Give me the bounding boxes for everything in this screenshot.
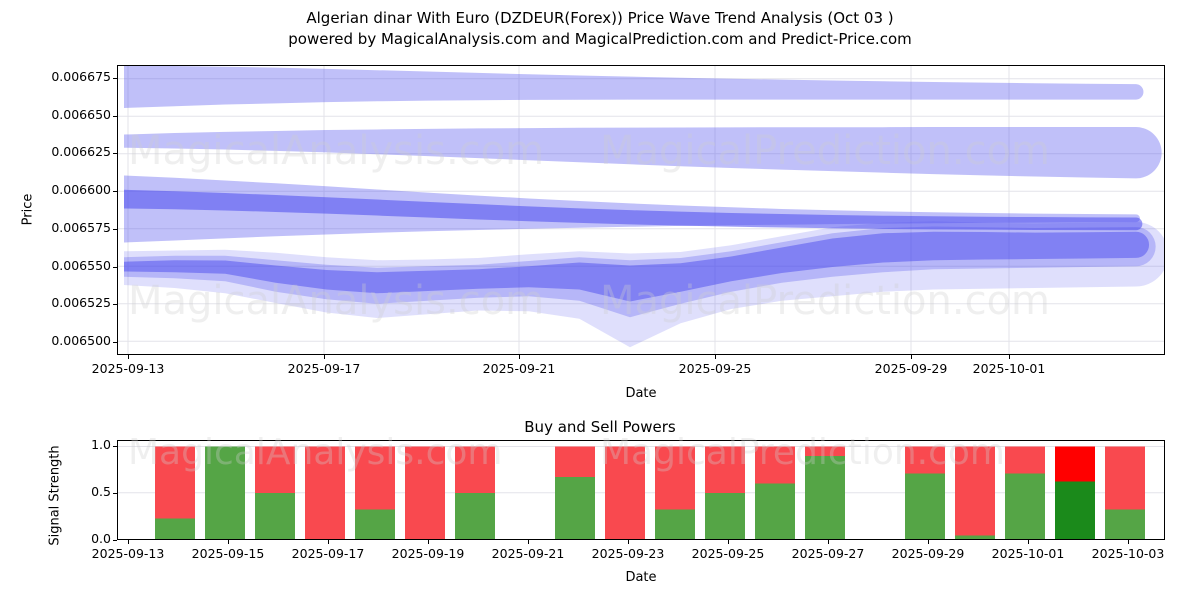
- price-wave-svg: [118, 66, 1164, 354]
- buy-sell-ylabel: Signal Strength: [48, 431, 63, 561]
- signal-xtick-mark: [828, 540, 829, 544]
- buy-sell-plot-area: [118, 441, 1164, 539]
- price-ytick-mark: [113, 116, 117, 117]
- signal-xtick-mark: [728, 540, 729, 544]
- signal-xtick-mark: [628, 540, 629, 544]
- price-xtick-mark: [519, 355, 520, 359]
- price-wave-chart-axes: [117, 65, 1165, 355]
- price-ytick-mark: [113, 267, 117, 268]
- signal-ytick-label: 0.5: [73, 484, 111, 499]
- signal-ytick-label: 0.0: [73, 531, 111, 546]
- signal-xtick-mark: [528, 540, 529, 544]
- price-wave-plot-area: [118, 66, 1164, 354]
- signal-ytick-mark: [113, 446, 117, 447]
- price-xtick-mark: [324, 355, 325, 359]
- price-ytick-mark: [113, 304, 117, 305]
- signal-xtick-mark: [928, 540, 929, 544]
- price-xtick-label: 2025-10-01: [949, 361, 1069, 376]
- price-ytick-label: 0.006500: [39, 333, 111, 348]
- price-ytick-mark: [113, 78, 117, 79]
- signal-xtick-mark: [1128, 540, 1129, 544]
- signal-xtick-mark: [128, 540, 129, 544]
- price-xtick-mark: [715, 355, 716, 359]
- price-ytick-mark: [113, 191, 117, 192]
- price-xtick-mark: [911, 355, 912, 359]
- signal-xtick-mark: [328, 540, 329, 544]
- price-xtick-label: 2025-09-13: [68, 361, 188, 376]
- price-ytick-label: 0.006550: [39, 258, 111, 273]
- signal-ytick-mark: [113, 493, 117, 494]
- price-ytick-label: 0.006675: [39, 69, 111, 84]
- signal-ytick-label: 1.0: [73, 437, 111, 452]
- price-ytick-mark: [113, 229, 117, 230]
- figure-title-line1: Algerian dinar With Euro (DZDEUR(Forex))…: [0, 8, 1200, 29]
- signal-xtick-label: 2025-10-03: [1068, 546, 1188, 561]
- price-ytick-label: 0.006575: [39, 220, 111, 235]
- buy-sell-svg: [118, 441, 1164, 539]
- signal-ytick-mark: [113, 540, 117, 541]
- price-wave-xlabel: Date: [117, 386, 1165, 401]
- price-xtick-label: 2025-09-25: [655, 361, 775, 376]
- signal-xtick-mark: [228, 540, 229, 544]
- price-ytick-label: 0.006600: [39, 182, 111, 197]
- price-xtick-label: 2025-09-21: [459, 361, 579, 376]
- price-xtick-mark: [1009, 355, 1010, 359]
- price-wave-ylabel: Price: [21, 160, 36, 260]
- price-ytick-mark: [113, 153, 117, 154]
- buy-sell-xlabel: Date: [117, 570, 1165, 585]
- signal-xtick-mark: [428, 540, 429, 544]
- price-ytick-mark: [113, 342, 117, 343]
- signal-xtick-mark: [1028, 540, 1029, 544]
- price-xtick-mark: [128, 355, 129, 359]
- price-ytick-label: 0.006525: [39, 295, 111, 310]
- buy-sell-chart-title: Buy and Sell Powers: [0, 418, 1200, 436]
- buy-sell-chart-axes: [117, 440, 1165, 540]
- figure-root: Algerian dinar With Euro (DZDEUR(Forex))…: [0, 0, 1200, 600]
- price-ytick-label: 0.006625: [39, 144, 111, 159]
- figure-title-line2: powered by MagicalAnalysis.com and Magic…: [0, 29, 1200, 50]
- price-ytick-label: 0.006650: [39, 107, 111, 122]
- price-xtick-label: 2025-09-17: [264, 361, 384, 376]
